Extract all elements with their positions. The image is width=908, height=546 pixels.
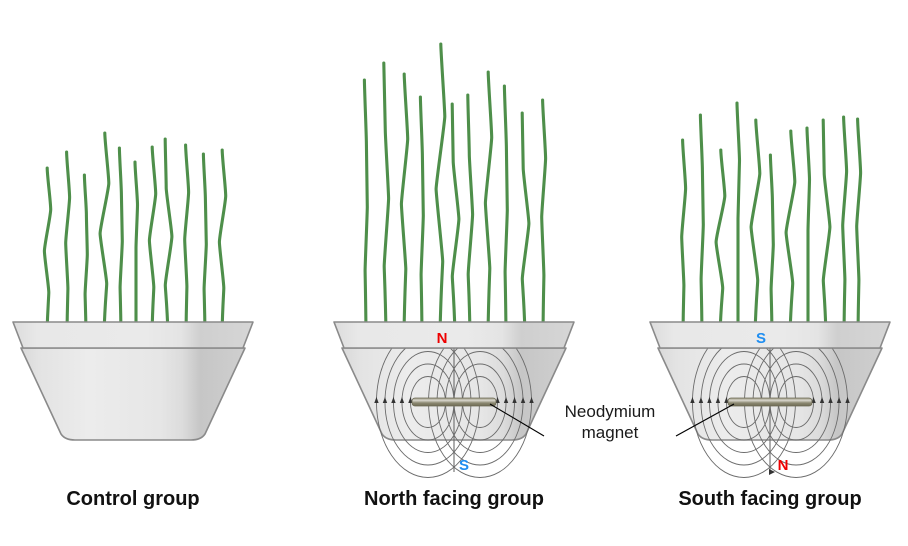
group-label-north-facing: North facing group bbox=[364, 488, 544, 510]
experiment-diagram: Control groupNSNorth facing groupSNSouth… bbox=[0, 0, 908, 546]
pot-rim-south-facing bbox=[650, 322, 890, 348]
neodymium-magnet-south-facing bbox=[728, 398, 812, 406]
pole-label-bottom-north-facing: S bbox=[459, 457, 469, 474]
plant-group-control: Control group bbox=[13, 133, 253, 510]
pot-rim-north-facing bbox=[334, 322, 574, 348]
group-label-control: Control group bbox=[66, 488, 199, 510]
neodymium-magnet-north-facing bbox=[412, 398, 496, 406]
diagram-canvas: Control groupNSNorth facing groupSNSouth… bbox=[0, 0, 908, 546]
stems-south-facing bbox=[682, 103, 861, 334]
stems-north-facing bbox=[364, 44, 545, 334]
callout-line-2: magnet bbox=[582, 423, 639, 442]
pole-label-bottom-south-facing: N bbox=[778, 457, 789, 474]
callout-line-1: Neodymium bbox=[565, 402, 656, 421]
plant-group-north-facing: NSNorth facing group bbox=[334, 44, 574, 510]
pot-body-control bbox=[21, 348, 245, 440]
pot-rim-control bbox=[13, 322, 253, 348]
group-label-south-facing: South facing group bbox=[678, 488, 861, 510]
plant-group-south-facing: SNSouth facing group bbox=[650, 103, 890, 510]
stems-control bbox=[44, 133, 225, 334]
pole-label-top-south-facing: S bbox=[756, 330, 766, 347]
plant-groups-layer: Control groupNSNorth facing groupSNSouth… bbox=[13, 44, 890, 510]
pole-label-top-north-facing: N bbox=[437, 330, 448, 347]
